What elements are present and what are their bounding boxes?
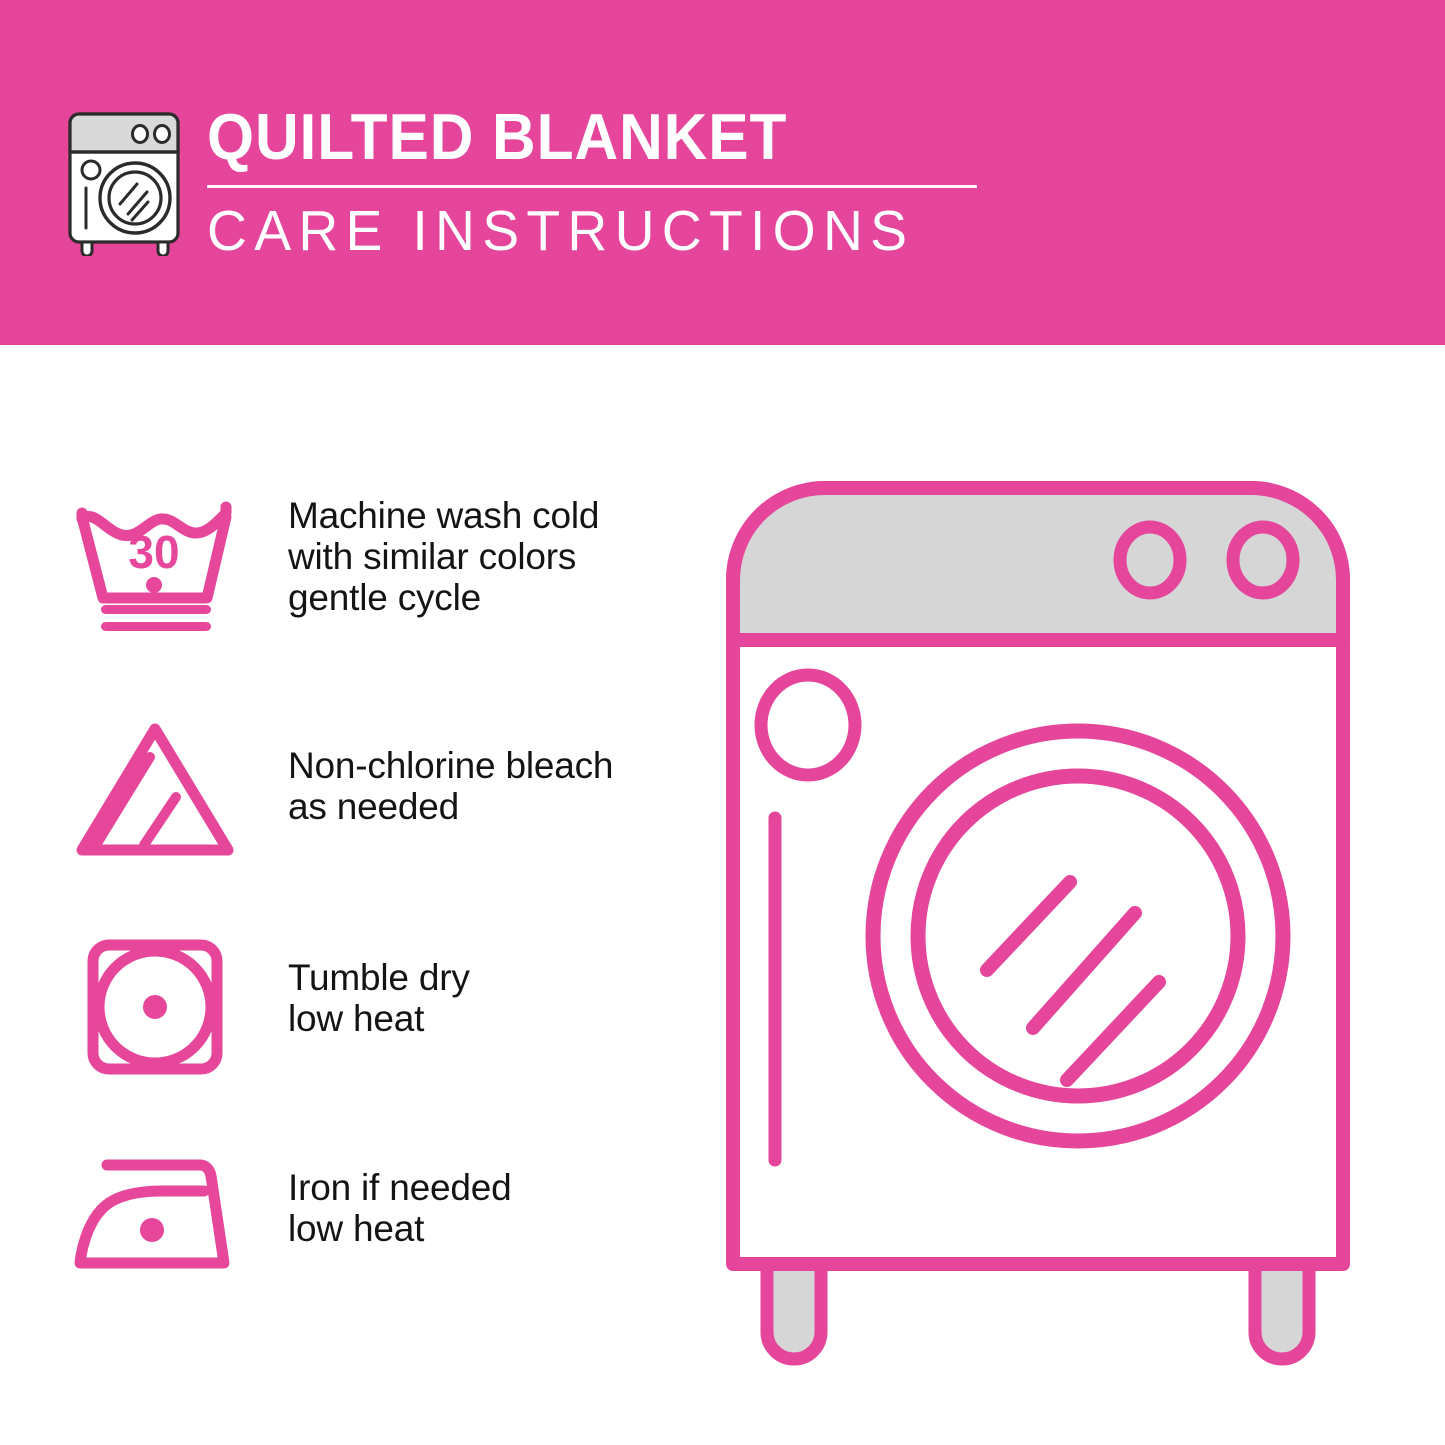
washer-leg-left <box>767 1258 821 1359</box>
care-row-label: Iron if needed low heat <box>288 1143 511 1249</box>
washer-door-inner <box>918 776 1238 1096</box>
page-subtitle: CARE INSTRUCTIONS <box>207 198 973 264</box>
washer-knob-1 <box>1120 527 1180 593</box>
wash-tub-30-icon: 30 <box>70 493 240 643</box>
care-instructions-infographic: QUILTED BLANKET CARE INSTRUCTIONS 30 Mac… <box>0 0 1445 1445</box>
care-row-label: Machine wash cold with similar colors ge… <box>288 493 599 618</box>
care-row: Non-chlorine bleach as needed <box>70 717 613 867</box>
washer-knob-2 <box>1233 527 1293 593</box>
washer-leg-right <box>1255 1258 1309 1359</box>
care-row: Iron if needed low heat <box>70 1143 511 1293</box>
iron-low-heat-icon <box>70 1143 240 1293</box>
header-banner: QUILTED BLANKET CARE INSTRUCTIONS <box>0 0 1445 345</box>
care-row: Tumble dry low heat <box>70 933 470 1083</box>
page-title: QUILTED BLANKET <box>207 100 942 174</box>
wash-temperature-label: 30 <box>128 526 179 578</box>
header-title-block: QUILTED BLANKET CARE INSTRUCTIONS <box>207 100 997 264</box>
washer-indicator-light <box>761 675 855 775</box>
washing-machine-icon <box>62 104 192 256</box>
care-row-label: Non-chlorine bleach as needed <box>288 717 613 827</box>
care-row: 30 Machine wash cold with similar colors… <box>70 493 599 643</box>
care-row-label: Tumble dry low heat <box>288 933 470 1039</box>
non-chlorine-bleach-triangle-icon <box>70 717 240 867</box>
tumble-dry-low-icon <box>70 933 240 1083</box>
care-symbol-list: 30 Machine wash cold with similar colors… <box>0 345 700 1445</box>
title-divider <box>207 185 977 188</box>
washing-machine-illustration <box>715 470 1415 1370</box>
